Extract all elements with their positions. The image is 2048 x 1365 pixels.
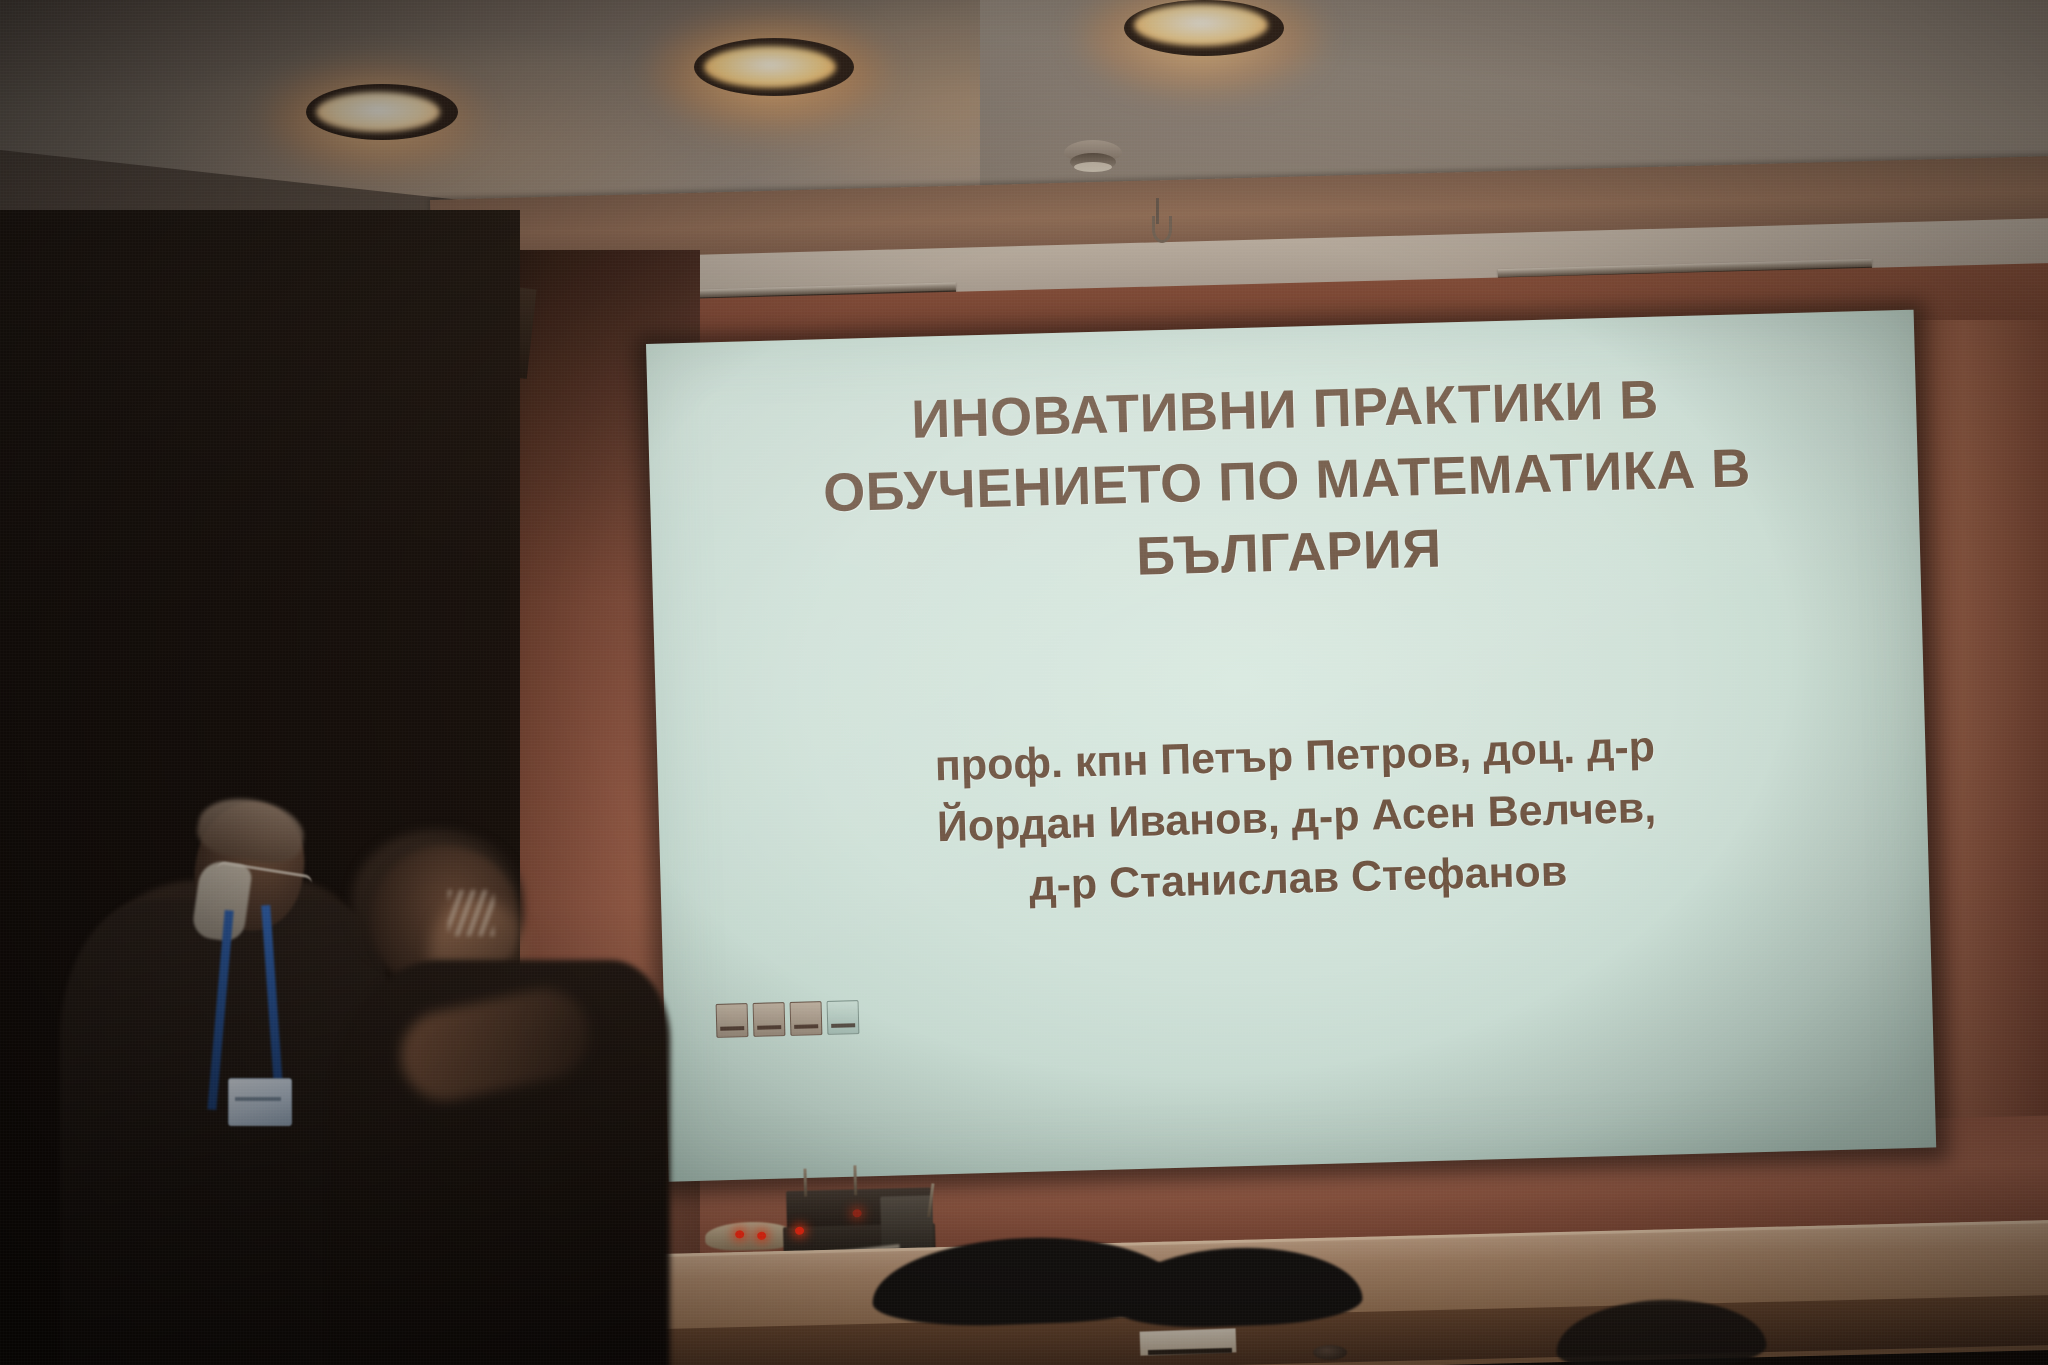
slide-authors: проф. кпн Петър Петров, доц. д-р Йордан …: [767, 712, 1827, 924]
smoke-detector-icon: [1064, 140, 1122, 176]
wall-outlet-3: [790, 1001, 823, 1036]
desk-object: [1313, 1345, 1347, 1360]
presenter-badge: [228, 1078, 292, 1126]
wall-outlet-row: [716, 1000, 860, 1038]
foreground-person-motion-highlight: [448, 890, 494, 936]
projection-screen: ИНОВАТИВНИ ПРАКТИКИ В ОБУЧЕНИЕТО ПО МАТЕ…: [646, 310, 1936, 1184]
ceiling-hook-icon: [1152, 198, 1164, 242]
projected-slide: ИНОВАТИВНИ ПРАКТИКИ В ОБУЧЕНИЕТО ПО МАТЕ…: [646, 310, 1936, 1182]
presentation-room-photo: ИНОВАТИВНИ ПРАКТИКИ В ОБУЧЕНИЕТО ПО МАТЕ…: [0, 0, 2048, 1365]
wall-outlet-2: [753, 1002, 786, 1037]
av-dome-cover: [705, 1221, 796, 1251]
slide-title: ИНОВАТИВНИ ПРАКТИКИ В ОБУЧЕНИЕТО ПО МАТЕ…: [739, 360, 1834, 603]
wall-outlet-1: [716, 1003, 749, 1038]
wall-outlet-4: [827, 1000, 860, 1035]
